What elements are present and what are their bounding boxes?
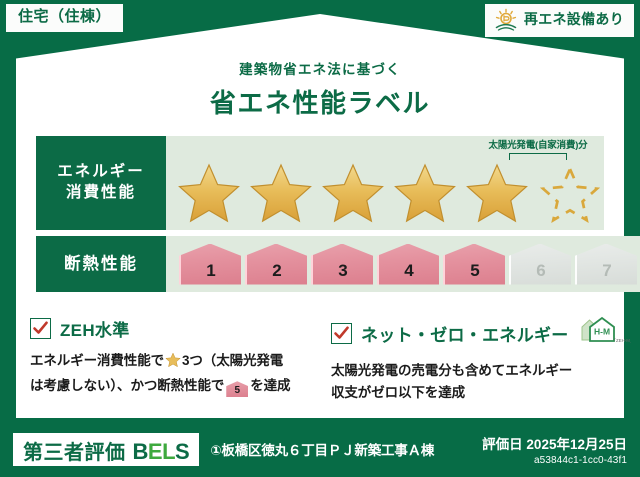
renewable-energy-label: 再エネ設備あり [524, 12, 624, 27]
property-address: ①板橋区徳丸６丁目ＰＪ新築工事Ａ棟 [210, 439, 434, 459]
evaluation-info: 評価日 2025年12月25日 a53844c1-1cc0-43f1 [482, 433, 627, 466]
net-zero-body-line2: 収支がゼロ以下を達成 [331, 385, 465, 400]
net-zero-body-line1: 太陽光発電の売電分も含めてエネルギー [331, 363, 572, 378]
insulation-grade-6: 6 [509, 244, 571, 285]
energy-performance-row-label: エネルギー 消費性能 [36, 136, 166, 230]
renewable-energy-badge: 再エネ設備あり [485, 4, 634, 37]
evaluation-date: 評価日 2025年12月25日 [482, 433, 627, 453]
net-zero-criterion: ネット・ゼロ・エネルギー H-M 「ZEH-M」 太陽光発電の売電分も含めてエネ… [331, 316, 615, 405]
insulation-performance-row: 断熱性能 1 2 3 4 5 6 7 [36, 236, 604, 292]
solar-self-consumption-note: 太陽光発電(自家消費)分 [478, 137, 598, 160]
star-filled [248, 162, 314, 225]
star-filled [320, 162, 386, 225]
criteria-section: ZEH水準 エネルギー消費性能で3つ（太陽光発電 は考慮しない）、かつ断熱性能で… [30, 316, 615, 405]
performance-rows: エネルギー 消費性能 太陽光発電(自家消費)分 [36, 136, 604, 298]
star-filled [464, 162, 530, 225]
zeh-body-stars: 3つ（太陽光発電 [182, 353, 283, 368]
insulation-grade-2: 2 [245, 244, 307, 285]
energy-performance-row-body: 太陽光発電(自家消費)分 [166, 136, 604, 230]
zeh-criterion-body: エネルギー消費性能で3つ（太陽光発電 は考慮しない）、かつ断熱性能で5を達成 [30, 350, 313, 398]
net-zero-criterion-title: ネット・ゼロ・エネルギー [361, 321, 569, 346]
energy-star-rating [176, 162, 600, 225]
third-party-evaluation-label: 第三者評価 [23, 436, 126, 465]
building-type-label: 住宅（住棟） [18, 8, 111, 25]
zeh-criterion: ZEH水準 エネルギー消費性能で3つ（太陽光発電 は考慮しない）、かつ断熱性能で… [30, 316, 313, 405]
insulation-grade-scale: 1 2 3 4 5 6 7 [166, 236, 640, 292]
inline-star-icon [165, 356, 181, 371]
energy-performance-row: エネルギー 消費性能 太陽光発電(自家消費)分 [36, 136, 604, 230]
bels-letter-s: S [175, 439, 189, 464]
bels-wordmark: BELS [133, 439, 190, 465]
evaluation-id: a53844c1-1cc0-43f1 [482, 455, 627, 466]
solar-note-text: 太陽光発電(自家消費)分 [478, 137, 598, 151]
insulation-grade-5: 5 [443, 244, 505, 285]
energy-label-line1: エネルギー [57, 162, 145, 183]
net-zero-criterion-body: 太陽光発電の売電分も含めてエネルギー 収支がゼロ以下を達成 [331, 360, 615, 405]
zeh-m-logo-icon: H-M 「ZEH-M」 [579, 316, 631, 351]
building-type-badge: 住宅（住棟） [6, 4, 123, 32]
label-title-block: 建築物省エネ法に基づく 省エネ性能ラベル [0, 58, 640, 120]
star-filled [392, 162, 458, 225]
svg-text:「ZEH-M」: 「ZEH-M」 [611, 338, 630, 343]
insulation-performance-row-label: 断熱性能 [36, 236, 166, 292]
title-subtitle: 建築物省エネ法に基づく [0, 58, 640, 78]
footer-bar: 第三者評価 BELS ①板橋区徳丸６丁目ＰＪ新築工事Ａ棟 評価日 2025年12… [0, 421, 640, 477]
insulation-grade-7: 7 [575, 244, 637, 285]
solar-note-bracket [509, 153, 567, 160]
title-main: 省エネ性能ラベル [0, 83, 640, 120]
svg-text:H-M: H-M [594, 327, 610, 337]
energy-performance-label: 住宅（住棟） 再エネ設備あり 建築物省エネ法に基づく 省エネ性能ラベル [0, 0, 640, 477]
bels-certification-mark: 第三者評価 BELS [13, 433, 199, 466]
zeh-checkbox-checked-icon [30, 318, 51, 339]
bels-letters-el: EL [148, 439, 175, 464]
zeh-body-pre: エネルギー消費性能で [30, 353, 164, 368]
insulation-label: 断熱性能 [64, 253, 138, 275]
insulation-grade-1: 1 [179, 244, 241, 285]
zeh-body-end: を達成 [250, 378, 290, 393]
inline-grade-badge: 5 [226, 381, 248, 397]
star-filled [176, 162, 242, 225]
energy-label-line2: 消費性能 [66, 183, 136, 204]
bels-letter-b: B [133, 439, 148, 464]
insulation-grade-4: 4 [377, 244, 439, 285]
insulation-grade-3: 3 [311, 244, 373, 285]
solar-sun-icon [493, 8, 519, 32]
net-zero-criterion-header: ネット・ゼロ・エネルギー H-M 「ZEH-M」 [331, 316, 615, 351]
zeh-criterion-header: ZEH水準 [30, 316, 313, 341]
star-dashed-solar [540, 166, 600, 224]
zeh-criterion-title: ZEH水準 [60, 316, 130, 341]
zeh-body-mid: は考慮しない）、かつ断熱性能で [30, 378, 224, 393]
net-zero-checkbox-checked-icon [331, 323, 352, 344]
